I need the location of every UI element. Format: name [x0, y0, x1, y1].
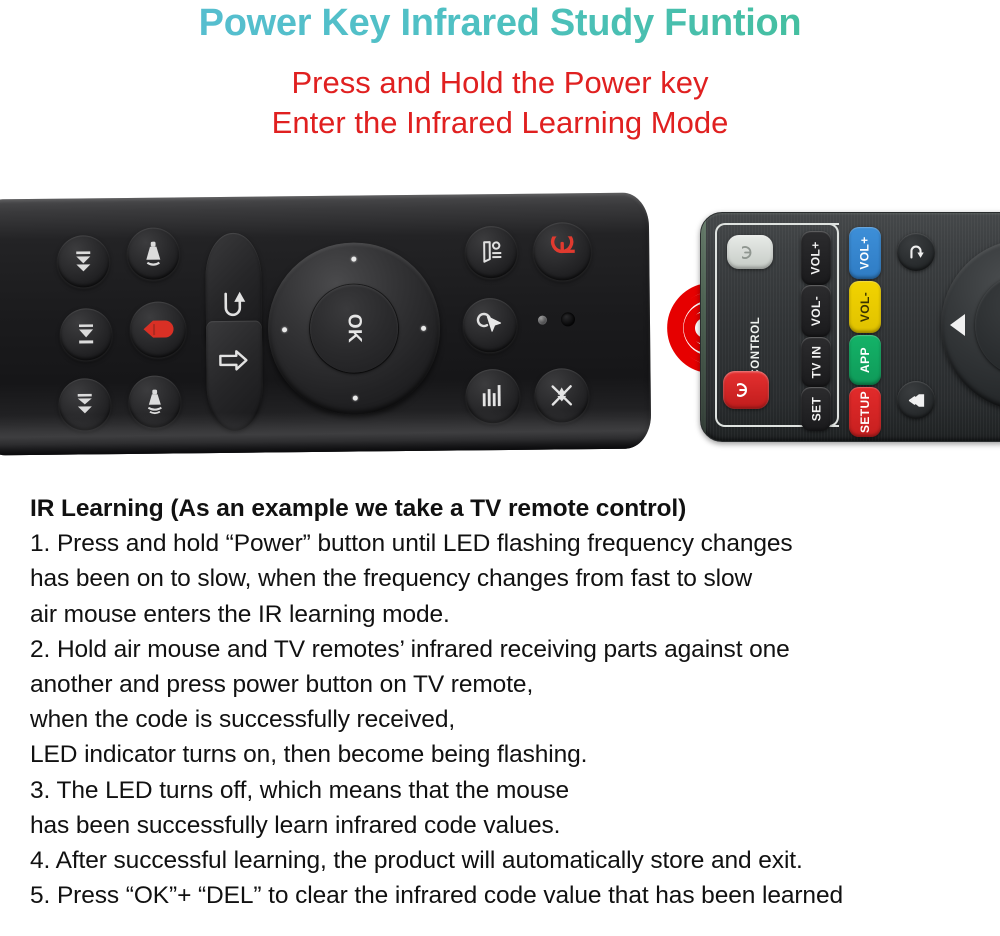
instruction-line: 4. After successful learning, the produc… — [30, 843, 980, 878]
button-power[interactable] — [533, 222, 592, 281]
instruction-line: has been successfully learn infrared cod… — [30, 808, 980, 843]
infrared-signal-waves — [630, 282, 708, 379]
tv-key-setup[interactable]: SETUP — [849, 387, 881, 437]
dpad-dot-down — [352, 396, 357, 401]
tv-ok-button[interactable]: OK — [975, 273, 1000, 377]
tv-key-vol-down-label: VOL- — [809, 296, 823, 326]
tv-power-button-grey[interactable] — [727, 235, 773, 269]
ok-button[interactable]: OK — [310, 284, 399, 373]
tv-key-set-label: SET — [809, 397, 823, 422]
tv-key-vol-up-label: VOL+ — [809, 241, 823, 274]
subtitle-line-1: Press and Hold the Power key — [0, 65, 1000, 101]
tv-key-setup-label: SETUP — [858, 391, 872, 433]
ok-button-label: OK — [343, 314, 365, 344]
instruction-line: when the code is successfully received, — [30, 702, 980, 737]
button-volume-up[interactable] — [127, 227, 180, 280]
tv-dpad-arrow-left[interactable] — [950, 314, 965, 341]
tv-key-vol-up[interactable]: VOL+ — [801, 231, 831, 285]
instruction-line: 1. Press and hold “Power” button until L… — [30, 526, 980, 561]
dpad-dot-right — [421, 325, 426, 330]
button-back-red[interactable] — [130, 301, 187, 358]
dpad-dot-up — [351, 257, 356, 262]
tv-return-button[interactable] — [897, 233, 935, 271]
instruction-line: air mouse enters the IR learning mode. — [30, 597, 980, 632]
instruction-line: 2. Hold air mouse and TV remotes’ infrar… — [30, 632, 980, 667]
ir-receiver — [561, 312, 575, 326]
tv-key-app[interactable]: APP — [849, 335, 881, 385]
tv-power-button-red[interactable] — [723, 371, 769, 409]
instruction-line: LED indicator turns on, then become bein… — [30, 737, 980, 772]
led-indicator — [538, 316, 547, 325]
button-double-chevron-down[interactable] — [59, 378, 112, 431]
instructions-block: IR Learning (As an example we take a TV … — [30, 491, 980, 913]
tv-key-tv-in-label: TV IN — [809, 346, 823, 379]
dpad-ring[interactable]: OK — [267, 242, 441, 416]
instruction-line: 3. The LED turns off, which means that t… — [30, 773, 980, 808]
tv-key-tv-in[interactable]: TV IN — [801, 337, 831, 387]
tv-key-color-vol-up-label: VOL+ — [858, 236, 872, 269]
instruction-line: another and press power button on TV rem… — [30, 667, 980, 702]
button-volume-down[interactable] — [129, 375, 182, 428]
tv-key-set[interactable]: SET — [801, 387, 831, 431]
button-del[interactable] — [465, 226, 518, 279]
button-enter[interactable] — [206, 321, 263, 432]
page-title: Power Key Infrared Study Funtion — [0, 2, 1000, 45]
tv-key-vol-down[interactable]: VOL- — [801, 285, 831, 337]
button-mouse-toggle[interactable] — [463, 298, 518, 353]
button-signal[interactable] — [465, 369, 520, 424]
tv-dpad-ring[interactable]: OK — [941, 239, 1000, 411]
tv-key-color-vol-down-label: VOL- — [858, 292, 872, 322]
button-chevron-down[interactable] — [60, 308, 113, 361]
tv-home-button[interactable] — [897, 381, 935, 419]
dpad-dot-left — [282, 327, 287, 332]
instruction-line: has been on to slow, when the frequency … — [30, 561, 980, 596]
tv-remote-control: TV CONTROL VOL+ VOL- TV IN SET VOL+ VOL-… — [700, 212, 1000, 442]
subtitle-line-2: Enter the Infrared Learning Mode — [0, 105, 1000, 141]
button-mute[interactable] — [534, 368, 589, 423]
tv-key-color-vol-up[interactable]: VOL+ — [849, 227, 881, 279]
air-mouse-remote: OK — [0, 192, 651, 455]
button-double-chevron-up[interactable] — [57, 235, 110, 288]
tv-key-color-vol-down[interactable]: VOL- — [849, 281, 881, 333]
tv-key-app-label: APP — [858, 347, 872, 373]
instruction-line: 5. Press “OK”+ “DEL” to clear the infrar… — [30, 878, 980, 913]
instruction-line: IR Learning (As an example we take a TV … — [30, 491, 980, 526]
